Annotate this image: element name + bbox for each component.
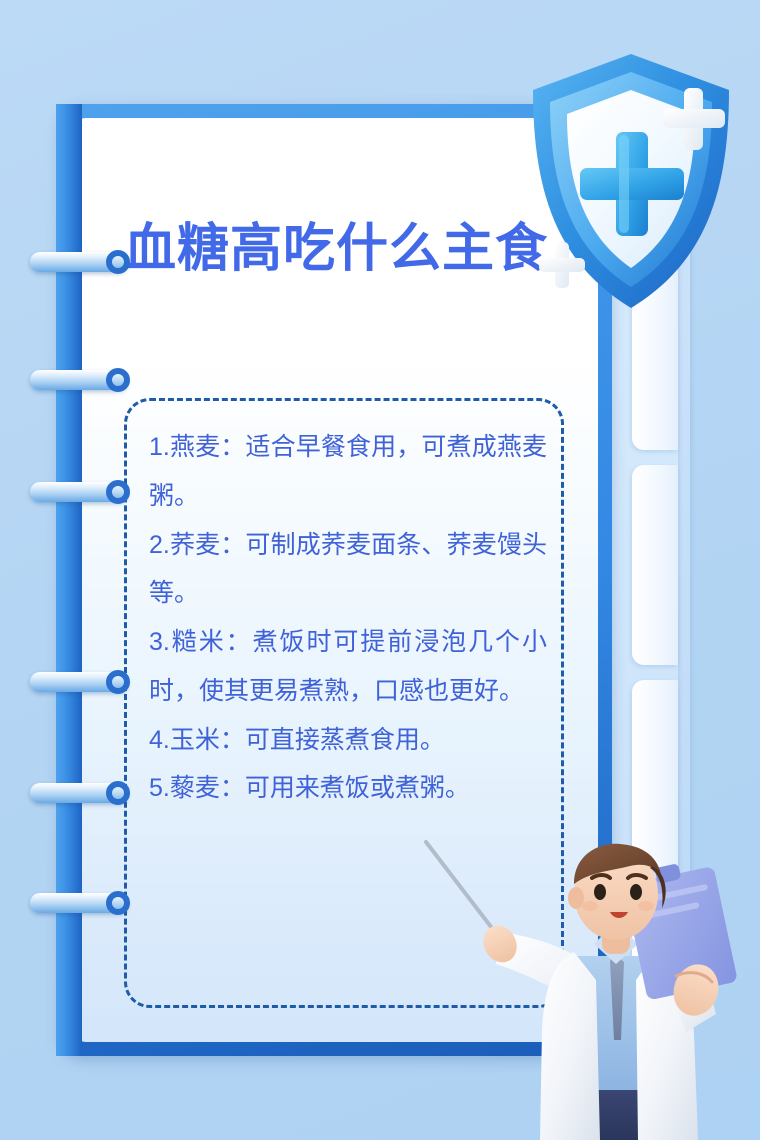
binder-ring-icon [30, 783, 128, 803]
binder-spine [56, 104, 82, 1056]
binder-ring-icon [30, 252, 128, 272]
binder-ring-icon [30, 893, 128, 913]
list-item: 5.藜麦：可用来煮饭或煮粥。 [149, 764, 547, 813]
list-item: 3.糙米：煮饭时可提前浸泡几个小时，使其更易煮熟，口感也更好。 [149, 618, 547, 716]
medical-shield-icon [523, 46, 745, 321]
food-list: 1.燕麦：适合早餐食用，可煮成燕麦粥。 2.荞麦：可制成荞麦面条、荞麦馒头等。 … [149, 423, 547, 813]
page-title: 血糖高吃什么主食 [74, 206, 598, 281]
page-tab [632, 465, 678, 665]
binder-ring-icon [30, 370, 128, 390]
list-item: 2.荞麦：可制成荞麦面条、荞麦馒头等。 [149, 521, 547, 619]
list-item: 4.玉米：可直接蒸煮食用。 [149, 716, 547, 765]
binder-ring-icon [30, 672, 128, 692]
poster-root: 血糖高吃什么主食 1.燕麦：适合早餐食用，可煮成燕麦粥。 2.荞麦：可制成荞麦面… [0, 0, 760, 1140]
doctor-with-clipboard-illustration [424, 840, 760, 1140]
list-item: 1.燕麦：适合早餐食用，可煮成燕麦粥。 [149, 423, 547, 521]
binder-ring-icon [30, 482, 128, 502]
